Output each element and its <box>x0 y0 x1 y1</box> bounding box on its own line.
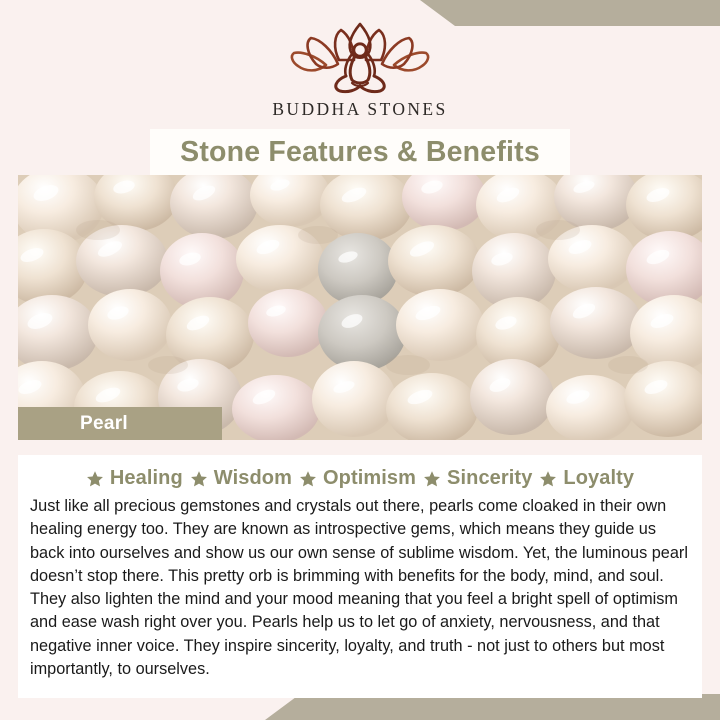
pearl-photo <box>18 175 702 440</box>
benefit-item-sincerity: Sincerity <box>423 467 532 490</box>
pearl-photo-image <box>18 175 702 440</box>
brand-logo-block: BUDDHA STONES <box>0 18 720 120</box>
benefit-item-healing: Healing <box>86 467 183 490</box>
brand-name: BUDDHA STONES <box>0 99 720 120</box>
stone-name: Pearl <box>80 413 128 435</box>
benefit-item-loyalty: Loyalty <box>539 467 634 490</box>
benefit-label: Optimism <box>323 467 416 490</box>
section-title-banner: Stone Features & Benefits <box>150 129 570 175</box>
benefit-item-wisdom: Wisdom <box>190 467 292 490</box>
star-icon <box>423 470 441 488</box>
benefit-label: Loyalty <box>563 467 634 490</box>
benefit-label: Healing <box>110 467 183 490</box>
page-title: Stone Features & Benefits <box>180 136 540 169</box>
star-icon <box>299 470 317 488</box>
benefit-label: Wisdom <box>214 467 292 490</box>
benefit-label: Sincerity <box>447 467 532 490</box>
lotus-meditation-icon <box>286 18 434 96</box>
star-icon <box>86 470 104 488</box>
photo-caption-bar: Pearl <box>18 407 222 440</box>
description-paragraph: Just like all precious gemstones and cry… <box>30 495 690 681</box>
star-icon <box>190 470 208 488</box>
benefit-item-optimism: Optimism <box>299 467 416 490</box>
stone-features-infographic: BUDDHA STONES Stone Features & Benefits <box>0 0 720 720</box>
description-card: Healing Wisdom Optimism Sincerity <box>18 455 702 698</box>
star-icon <box>539 470 557 488</box>
benefits-list: Healing Wisdom Optimism Sincerity <box>18 455 702 490</box>
